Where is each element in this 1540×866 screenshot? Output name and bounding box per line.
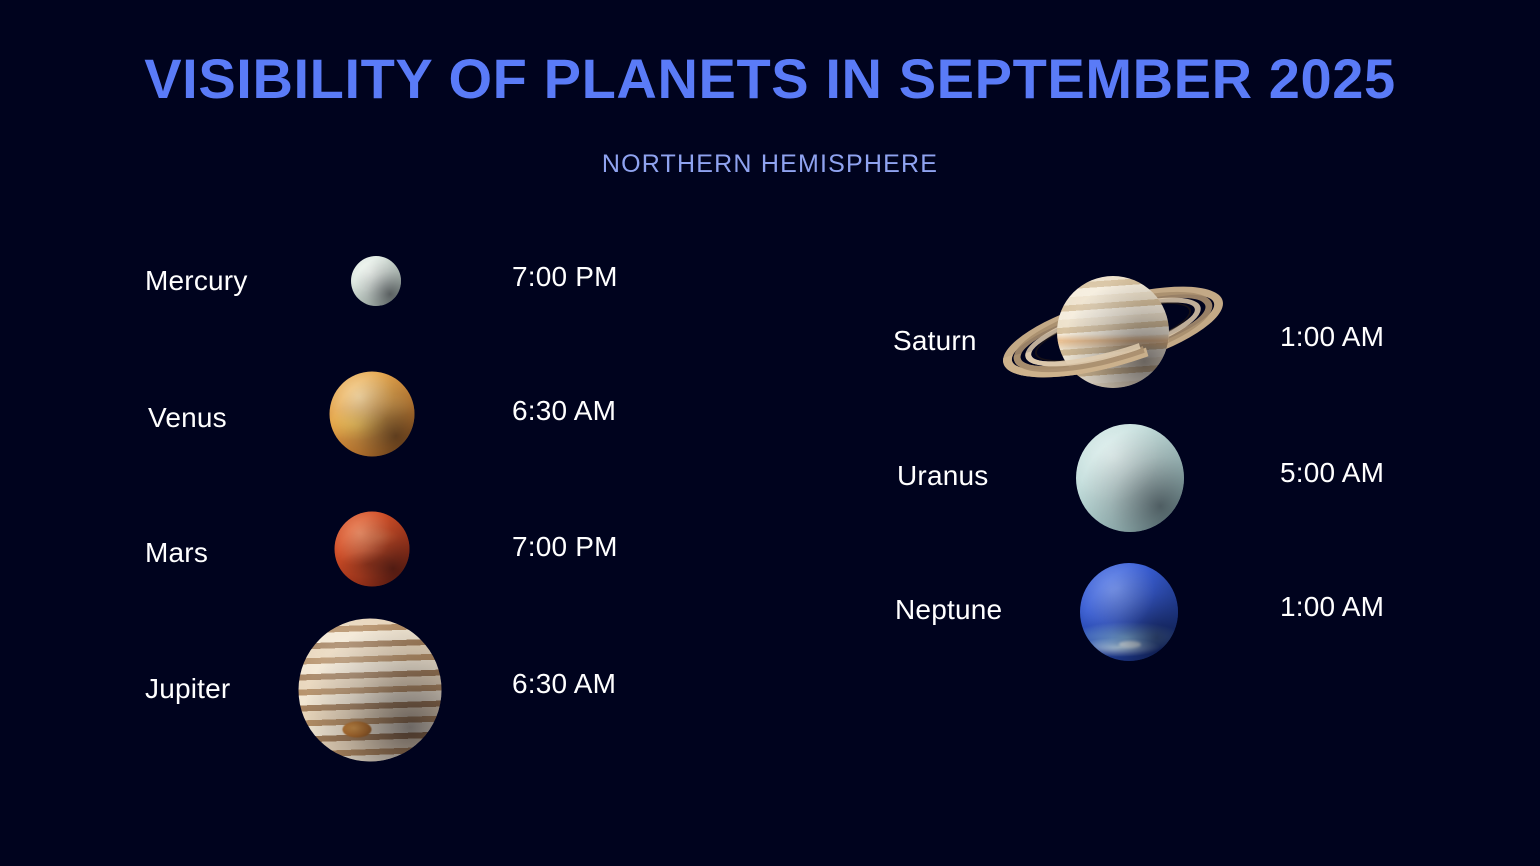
planet-time-mars: 7:00 PM xyxy=(512,531,618,563)
mars-planet-icon xyxy=(335,512,410,587)
saturn-planet-icon xyxy=(993,262,1233,402)
uranus-planet-icon xyxy=(1076,424,1184,532)
page-subtitle: NORTHERN HEMISPHERE xyxy=(0,150,1540,179)
planet-visibility-poster: VISIBILITY OF PLANETS IN SEPTEMBER 2025 … xyxy=(0,0,1540,866)
great-red-spot-icon xyxy=(343,721,372,737)
planet-name-mars: Mars xyxy=(145,537,208,569)
planet-name-mercury: Mercury xyxy=(145,265,248,297)
jupiter-planet-icon xyxy=(299,619,442,762)
planet-name-uranus: Uranus xyxy=(897,460,988,492)
page-title: VISIBILITY OF PLANETS IN SEPTEMBER 2025 xyxy=(0,46,1540,111)
planet-name-jupiter: Jupiter xyxy=(145,673,230,705)
mercury-planet-icon xyxy=(351,256,401,306)
planet-time-venus: 6:30 AM xyxy=(512,395,616,427)
planet-name-neptune: Neptune xyxy=(895,594,1002,626)
planet-time-saturn: 1:00 AM xyxy=(1280,321,1384,353)
planet-name-saturn: Saturn xyxy=(893,325,977,357)
venus-planet-icon xyxy=(330,372,415,457)
neptune-planet-icon xyxy=(1080,563,1178,661)
neptune-bright-cloud-icon xyxy=(1119,641,1141,648)
planet-time-neptune: 1:00 AM xyxy=(1280,591,1384,623)
planet-time-jupiter: 6:30 AM xyxy=(512,668,616,700)
planet-time-uranus: 5:00 AM xyxy=(1280,457,1384,489)
planet-time-mercury: 7:00 PM xyxy=(512,261,618,293)
planet-name-venus: Venus xyxy=(148,402,227,434)
